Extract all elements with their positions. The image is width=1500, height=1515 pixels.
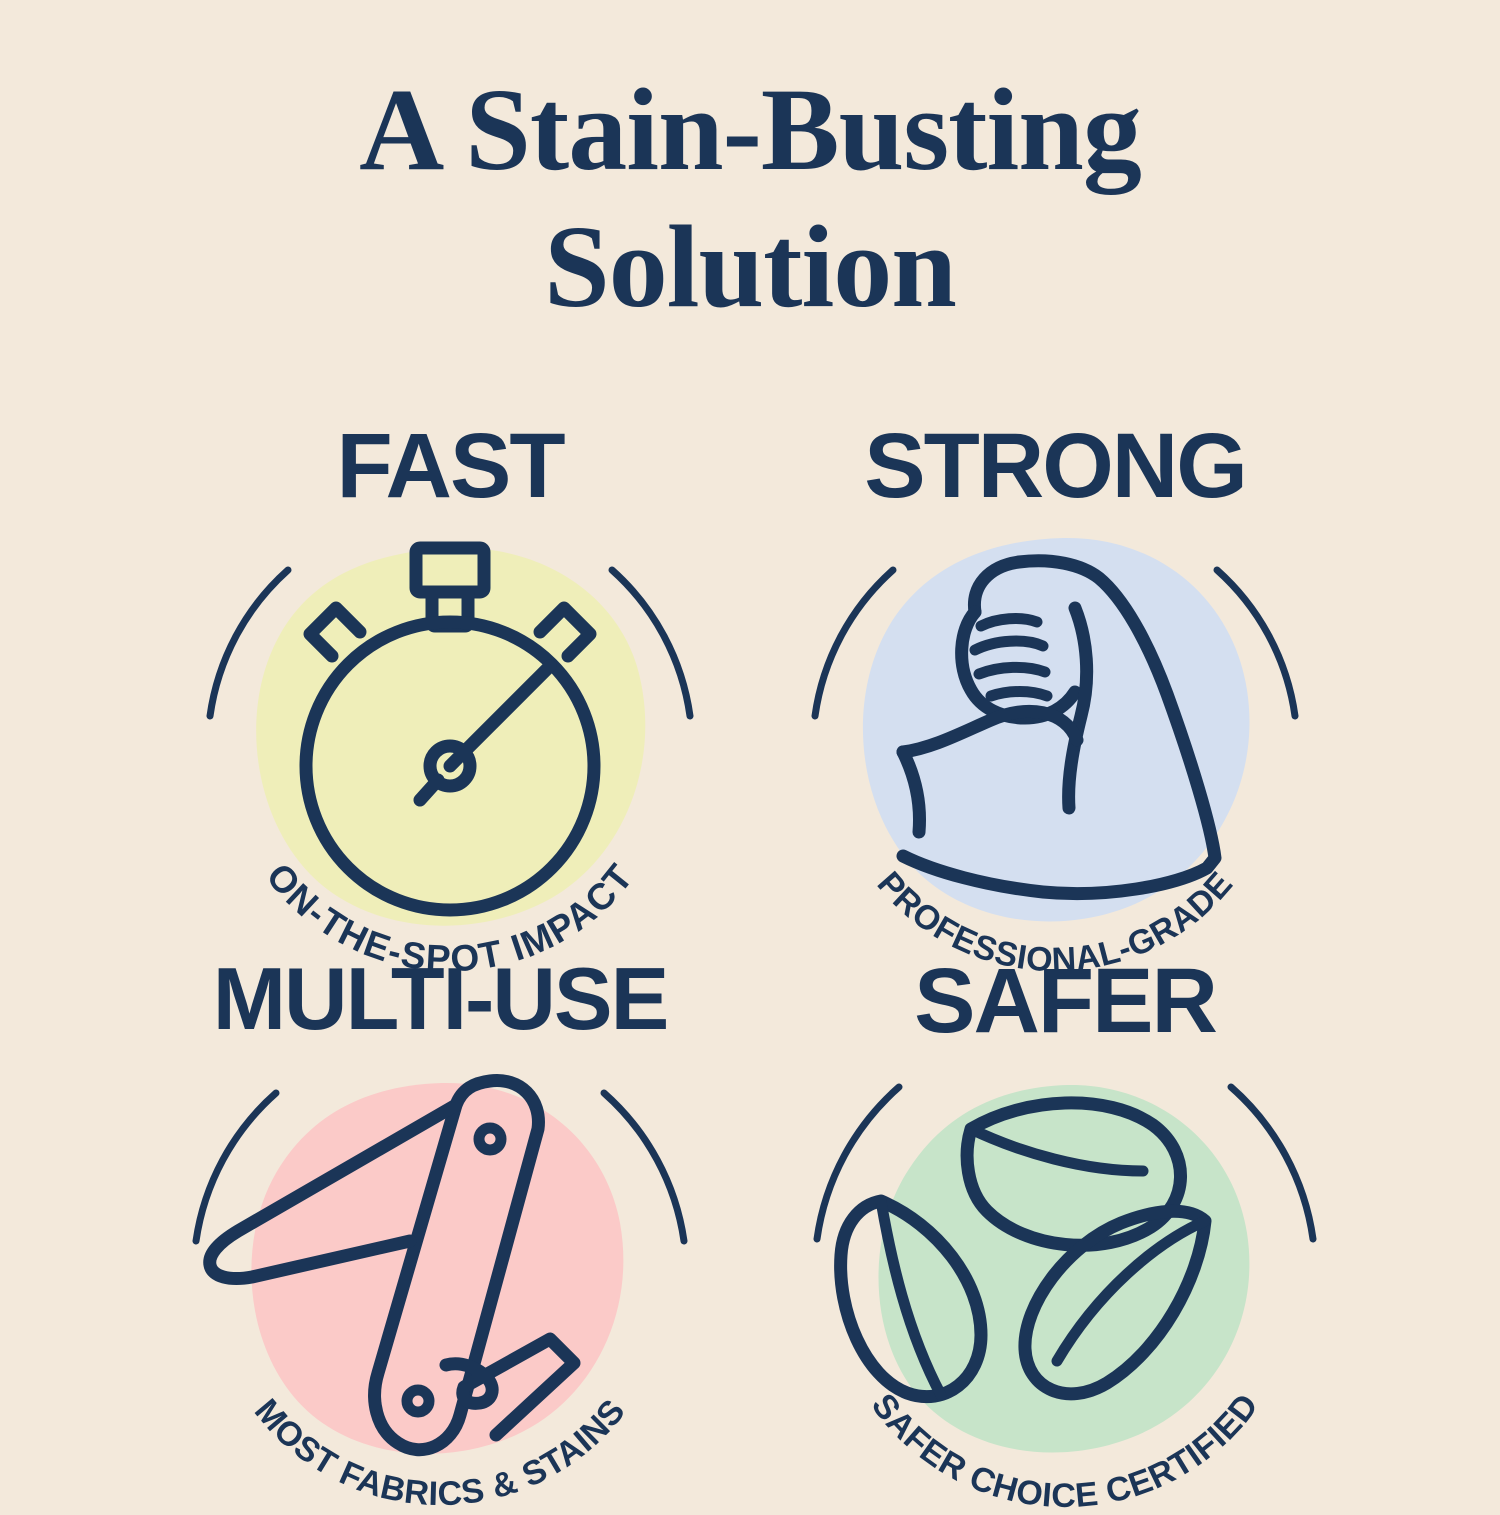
badge-ring-safer: SAFER CHOICE CERTIFIED bbox=[785, 1043, 1345, 1513]
page-title-line-2: Solution bbox=[0, 199, 1500, 336]
badge-ring-fast: ON-THE-SPOT IMPACT bbox=[170, 508, 730, 978]
badge-heading-safer: SAFER bbox=[785, 955, 1345, 1047]
feature-badge-strong: STRONG bbox=[775, 420, 1335, 980]
page-title-line-1: A Stain-Busting bbox=[0, 62, 1500, 199]
badge-ring-strong: PROFESSIONAL-GRADE bbox=[775, 508, 1335, 978]
badge-ring-multi-use: MOST FABRICS & STAINS bbox=[160, 1043, 720, 1513]
badge-heading-fast: FAST bbox=[170, 420, 730, 512]
feature-badge-multi-use: MULTI-USE bbox=[160, 955, 720, 1515]
infographic-panel: A Stain-Busting Solution FAST bbox=[0, 0, 1500, 1500]
badge-heading-strong: STRONG bbox=[775, 420, 1335, 512]
feature-badge-safer: SAFER bbox=[785, 955, 1345, 1515]
badge-heading-multi-use: MULTI-USE bbox=[160, 955, 720, 1043]
feature-badge-fast: FAST bbox=[170, 420, 730, 980]
page-title: A Stain-Busting Solution bbox=[0, 62, 1500, 336]
